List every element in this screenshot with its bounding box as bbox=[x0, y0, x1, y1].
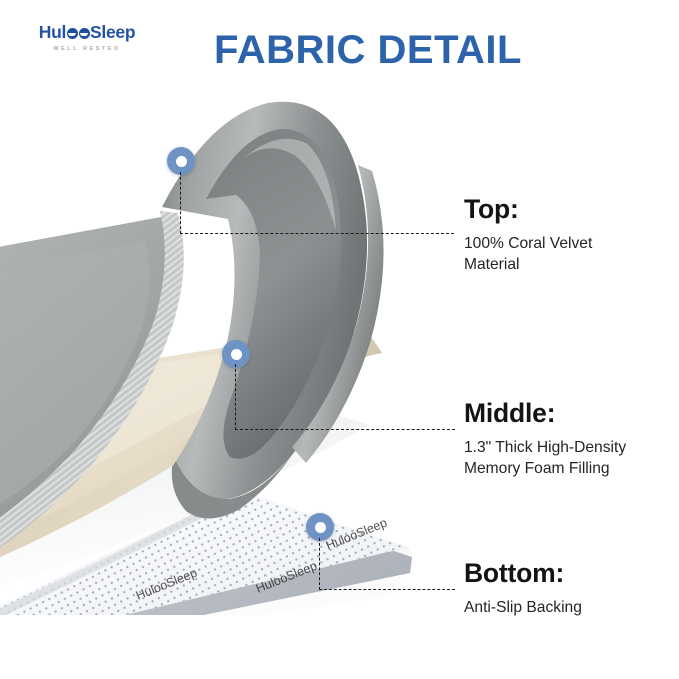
callout-bottom-description-line1: Anti-Slip Backing bbox=[464, 597, 582, 619]
coral-velvet-layer bbox=[0, 102, 384, 565]
callout-middle-description-line1: 1.3" Thick High-Density bbox=[464, 437, 626, 459]
leader-line-bottom-vertical bbox=[319, 538, 320, 590]
callout-middle-description: 1.3" Thick High-Density Memory Foam Fill… bbox=[464, 437, 626, 480]
sleeping-eye-icon-left bbox=[67, 28, 78, 39]
callout-marker-middle[interactable] bbox=[222, 340, 250, 368]
leader-line-middle-vertical bbox=[235, 364, 236, 430]
callout-top-description: 100% Coral Velvet Material bbox=[464, 233, 592, 276]
callout-bottom-description: Anti-Slip Backing bbox=[464, 597, 582, 619]
callout-bottom-heading: Bottom: bbox=[464, 560, 582, 588]
brand-tagline: WELL RESTED bbox=[27, 46, 147, 52]
brand-logo: Hul Sleep WELL RESTED bbox=[27, 22, 147, 52]
leader-line-top-vertical bbox=[180, 172, 181, 234]
callout-middle-description-line2: Memory Foam Filling bbox=[464, 458, 626, 480]
page-title: FABRIC DETAIL bbox=[214, 28, 522, 73]
brand-wordmark: Hul Sleep bbox=[27, 22, 147, 43]
callout-bottom: Bottom: Anti-Slip Backing bbox=[464, 560, 582, 618]
infographic-page: Hul Sleep WELL RESTED FABRIC DETAIL bbox=[0, 0, 679, 679]
brand-name-prefix: Hul bbox=[39, 22, 66, 43]
leader-line-middle-horizontal bbox=[235, 429, 455, 430]
callout-middle: Middle: 1.3" Thick High-Density Memory F… bbox=[464, 400, 626, 480]
callout-marker-bottom[interactable] bbox=[306, 513, 334, 541]
callout-top-heading: Top: bbox=[464, 196, 592, 224]
callout-top: Top: 100% Coral Velvet Material bbox=[464, 196, 592, 276]
callout-top-description-line2: Material bbox=[464, 254, 592, 276]
leader-line-bottom-horizontal bbox=[319, 589, 455, 590]
brand-name-suffix: Sleep bbox=[90, 22, 135, 43]
callout-top-description-line1: 100% Coral Velvet bbox=[464, 233, 592, 255]
sleeping-eye-icon-right bbox=[79, 28, 90, 39]
callout-middle-heading: Middle: bbox=[464, 400, 626, 428]
leader-line-top-horizontal bbox=[180, 233, 454, 234]
callout-marker-top[interactable] bbox=[167, 147, 195, 175]
